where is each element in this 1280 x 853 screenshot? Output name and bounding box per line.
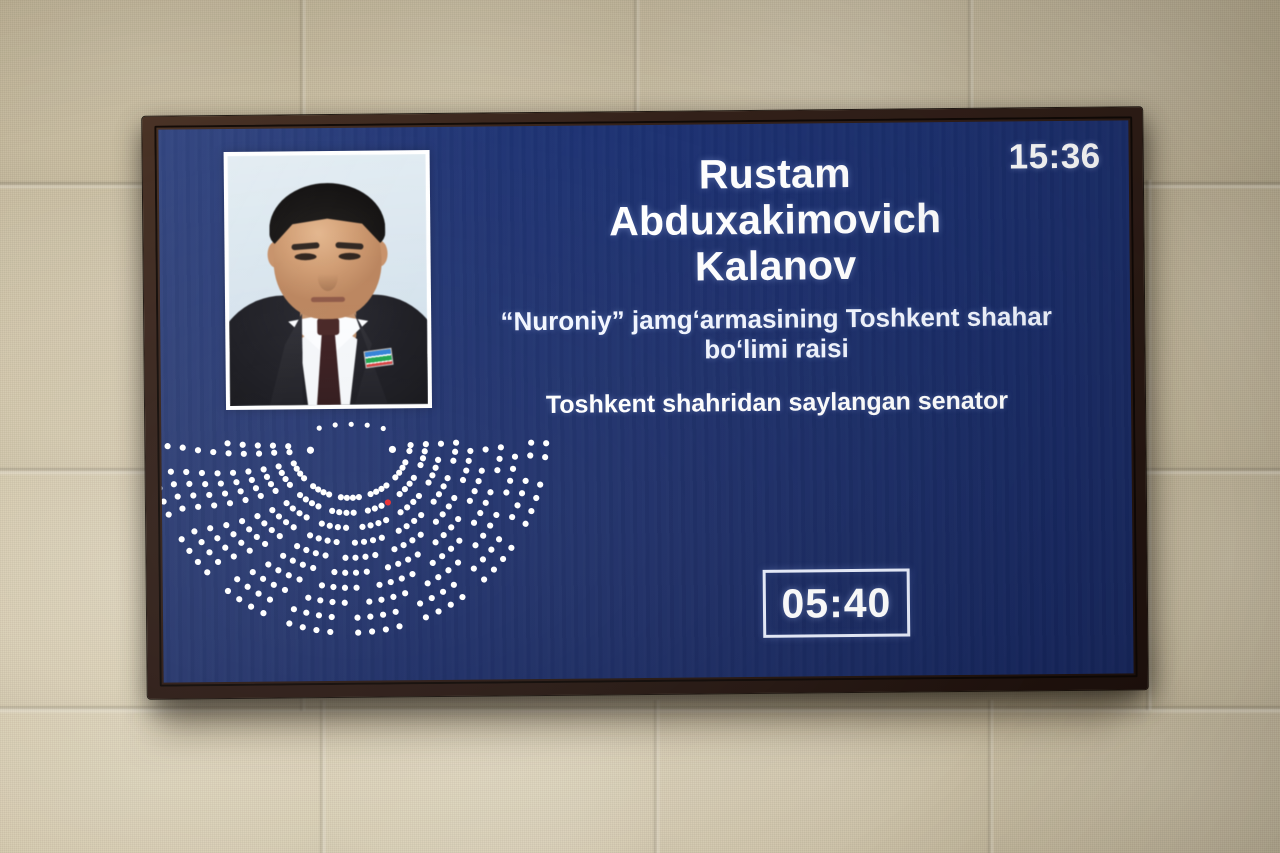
seat: [296, 510, 302, 516]
seat: [542, 454, 548, 460]
seat: [222, 545, 228, 551]
seat: [342, 570, 348, 576]
seat: [356, 494, 362, 500]
seat: [507, 478, 513, 484]
seat: [466, 458, 472, 464]
seat: [440, 511, 446, 517]
seat: [487, 522, 493, 528]
seat: [286, 620, 292, 626]
seat: [367, 522, 373, 528]
seat: [353, 585, 359, 591]
seat: [334, 539, 340, 545]
seat: [225, 588, 231, 594]
seat: [390, 594, 396, 600]
seat: [279, 470, 285, 476]
seat: [418, 512, 424, 518]
seat: [351, 510, 357, 516]
seat: [175, 493, 181, 499]
seat: [230, 470, 236, 476]
seat: [396, 528, 402, 534]
seat: [423, 614, 429, 620]
seat: [533, 495, 539, 501]
seat: [514, 502, 520, 508]
seat: [481, 576, 487, 582]
seat: [435, 457, 441, 463]
seat: [432, 465, 438, 471]
seat: [211, 502, 217, 508]
seat: [444, 475, 450, 481]
seat: [527, 452, 533, 458]
seat: [230, 531, 236, 537]
seat: [439, 553, 445, 559]
seat: [286, 449, 292, 455]
seat: [407, 442, 413, 448]
wall-display-monitor: 15:36: [142, 107, 1148, 699]
seat: [417, 462, 423, 468]
seat: [322, 552, 328, 558]
seat: [316, 612, 322, 618]
seat: [498, 444, 504, 450]
seat: [329, 614, 335, 620]
seat: [233, 479, 239, 485]
seat: [418, 532, 424, 538]
seat: [343, 525, 349, 531]
seat: [300, 624, 306, 630]
seat: [294, 543, 300, 549]
seat: [399, 575, 405, 581]
seat: [423, 441, 429, 447]
seat: [255, 442, 261, 448]
seat: [400, 542, 406, 548]
seat: [256, 450, 262, 456]
seat: [258, 493, 264, 499]
seat: [480, 533, 486, 539]
seat: [158, 472, 159, 478]
seat: [436, 491, 442, 497]
seat: [342, 555, 348, 561]
speaker-portrait: [224, 150, 432, 410]
seat: [370, 537, 376, 543]
seat: [483, 500, 489, 506]
seat: [300, 562, 306, 568]
seat: [350, 495, 356, 501]
seat: [479, 468, 485, 474]
seat: [317, 426, 322, 431]
seat: [528, 440, 534, 446]
seat: [452, 449, 458, 455]
seat: [450, 458, 456, 464]
seat: [352, 540, 358, 546]
seat: [276, 463, 282, 469]
seat: [503, 489, 509, 495]
seat: [160, 498, 166, 504]
seat: [410, 499, 416, 505]
seat: [218, 480, 224, 486]
seat: [319, 521, 325, 527]
seat: [445, 567, 451, 573]
seat: [420, 455, 426, 461]
seat: [409, 537, 415, 543]
seat: [186, 548, 192, 554]
seat: [338, 494, 344, 500]
seat: [365, 423, 370, 428]
seat: [411, 518, 417, 524]
seat: [336, 509, 342, 515]
seat: [393, 609, 399, 615]
seat: [496, 456, 502, 462]
seat: [512, 454, 518, 460]
seat: [361, 539, 367, 545]
seat: [315, 503, 321, 509]
seat: [344, 495, 350, 501]
wall-panel: [1150, 475, 1280, 705]
seat: [248, 603, 254, 609]
seat: [409, 571, 415, 577]
seat: [349, 422, 354, 427]
seat: [276, 513, 282, 519]
seat: [277, 533, 283, 539]
seat: [429, 595, 435, 601]
seat: [472, 542, 478, 548]
portrait-mouth: [311, 297, 345, 302]
seat: [453, 440, 459, 446]
seat: [304, 514, 310, 520]
seat: [415, 551, 421, 557]
seat: [508, 545, 514, 551]
seat: [431, 499, 437, 505]
wall-panel: [995, 712, 1280, 853]
seat: [303, 496, 309, 502]
speaking-timer-box: 05:40: [763, 568, 911, 637]
seat: [214, 470, 220, 476]
seat: [254, 513, 260, 519]
seat: [355, 630, 361, 636]
seat: [369, 628, 375, 634]
seat: [158, 485, 162, 491]
seat: [372, 505, 378, 511]
seat: [285, 443, 291, 449]
seat: [333, 422, 338, 427]
seat: [435, 608, 441, 614]
seat: [307, 447, 314, 454]
seat: [463, 467, 469, 473]
seat: [249, 477, 255, 483]
seat: [191, 528, 197, 534]
seat: [283, 519, 289, 525]
seat: [395, 561, 401, 567]
seat: [280, 553, 286, 559]
seat: [438, 441, 444, 447]
seat: [430, 560, 436, 566]
seat: [179, 505, 185, 511]
seat: [195, 559, 201, 565]
seat: [488, 546, 494, 552]
seat: [319, 582, 325, 588]
seat: [186, 481, 192, 487]
seat: [206, 492, 212, 498]
seat: [313, 627, 319, 633]
speaker-role-line-2: bo‘limi raisi: [460, 331, 1092, 368]
seat: [260, 610, 266, 616]
seat: [378, 597, 384, 603]
seat: [352, 555, 358, 561]
speaker-constituency: Toshkent shahridan saylangan senator: [461, 386, 1093, 421]
seat: [309, 500, 315, 506]
seat: [210, 449, 216, 455]
seat: [365, 507, 371, 513]
seat: [331, 569, 337, 575]
seat: [467, 448, 473, 454]
seat: [477, 510, 483, 516]
wall-panel: [1150, 190, 1280, 470]
seat: [315, 486, 321, 492]
seat: [494, 467, 500, 473]
seat: [364, 569, 370, 575]
seat: [417, 600, 423, 606]
seat: [224, 440, 230, 446]
seat: [204, 569, 210, 575]
seat: [303, 610, 309, 616]
seat: [222, 490, 228, 496]
seat: [272, 488, 278, 494]
uzbekistan-flag-pin-icon: [364, 348, 394, 369]
seat: [404, 504, 410, 510]
seat: [425, 580, 431, 586]
seat: [362, 554, 368, 560]
seat: [242, 497, 248, 503]
seat: [378, 503, 384, 509]
seat: [405, 556, 411, 562]
seat: [179, 536, 185, 542]
seat: [493, 512, 499, 518]
seat: [253, 485, 259, 491]
seat: [270, 442, 276, 448]
seat: [425, 479, 431, 485]
seat: [271, 450, 277, 456]
seat: [396, 623, 402, 629]
seat: [459, 594, 465, 600]
seat: [324, 537, 330, 543]
seat: [254, 534, 260, 540]
seat: [269, 507, 275, 513]
seat: [215, 559, 221, 565]
seat: [240, 442, 246, 448]
seat: [290, 558, 296, 564]
seat: [472, 488, 478, 494]
seat: [467, 498, 473, 504]
seat: [287, 482, 293, 488]
seat: [268, 481, 274, 487]
wall-panel: [325, 712, 655, 853]
seat: [402, 590, 408, 596]
seat: [260, 576, 266, 582]
seat: [448, 602, 454, 608]
seat: [214, 535, 220, 541]
chamber-seating-diagram: [179, 416, 521, 677]
seat: [234, 576, 240, 582]
seat: [168, 469, 174, 475]
seat: [206, 549, 212, 555]
seat: [366, 599, 372, 605]
seat: [231, 553, 237, 559]
seat: [199, 470, 205, 476]
seat: [448, 546, 454, 552]
seat: [411, 475, 417, 481]
seat: [244, 584, 250, 590]
seat: [241, 451, 247, 457]
seat: [164, 443, 170, 449]
seat: [397, 491, 403, 497]
seat: [537, 481, 543, 487]
seat: [543, 440, 549, 446]
seat: [238, 488, 244, 494]
seat: [416, 493, 422, 499]
seat: [441, 532, 447, 538]
seat: [291, 460, 297, 466]
seat: [528, 508, 534, 514]
seat: [475, 478, 481, 484]
seat: [510, 466, 516, 472]
seat: [261, 520, 267, 526]
seat: [500, 556, 506, 562]
speaker-name-line-3: Kalanov: [459, 241, 1091, 293]
seat: [223, 522, 229, 528]
seat: [381, 426, 386, 431]
portrait-nose: [318, 263, 338, 291]
seat: [202, 481, 208, 487]
seat: [433, 519, 439, 525]
speaker-info-block: Rustam Abduxakimovich Kalanov “Nuroniy” …: [459, 149, 1094, 421]
display-screen: 15:36: [158, 120, 1133, 682]
seat: [246, 526, 252, 532]
speaker-name-line-1: Rustam: [459, 149, 1091, 201]
seat: [388, 579, 394, 585]
seat: [342, 585, 348, 591]
seat: [282, 476, 288, 482]
seat: [316, 535, 322, 541]
seat: [303, 547, 309, 553]
seat: [307, 532, 313, 538]
seat: [255, 590, 261, 596]
conference-room-wall: 15:36: [0, 0, 1280, 853]
seat: [282, 587, 288, 593]
portrait-image: [228, 154, 428, 406]
seat: [271, 582, 277, 588]
seat: [236, 596, 242, 602]
seat: [227, 500, 233, 506]
seat: [375, 520, 381, 526]
seat: [509, 514, 515, 520]
seat: [455, 516, 461, 522]
seat: [262, 541, 268, 547]
seat: [225, 450, 231, 456]
speaking-timer-value: 05:40: [781, 579, 891, 627]
seat: [402, 486, 408, 492]
seat: [491, 566, 497, 572]
seat: [267, 597, 273, 603]
seat: [261, 466, 267, 472]
seat: [367, 613, 373, 619]
seat: [283, 500, 289, 506]
seat: [310, 565, 316, 571]
seat: [379, 535, 385, 541]
seat: [195, 447, 201, 453]
speaker-name-line-2: Abduxakimovich: [459, 195, 1091, 247]
seat: [440, 589, 446, 595]
seat: [290, 505, 296, 511]
seat: [239, 518, 245, 524]
seat: [297, 492, 303, 498]
seat: [380, 612, 386, 618]
seat: [367, 491, 373, 497]
seat: [446, 503, 452, 509]
seat: [373, 489, 379, 495]
seat: [383, 626, 389, 632]
seat: [376, 582, 382, 588]
seat: [385, 564, 391, 570]
seat: [238, 540, 244, 546]
seat: [327, 523, 333, 529]
seat: [195, 504, 201, 510]
seat: [389, 446, 396, 453]
seat: [326, 491, 332, 497]
seat: [183, 469, 189, 475]
seat: [265, 561, 271, 567]
seat: [291, 606, 297, 612]
seat: [247, 548, 253, 554]
seat: [399, 465, 405, 471]
seat: [404, 523, 410, 529]
seat: [291, 524, 297, 530]
seat: [317, 597, 323, 603]
seat: [522, 521, 528, 527]
seatmap-svg: [179, 416, 521, 677]
seat: [180, 445, 186, 451]
seat: [435, 574, 441, 580]
seat: [207, 525, 213, 531]
seat: [359, 524, 365, 530]
speaker-role: “Nuroniy” jamg‘armasining Toshkent shaha…: [460, 300, 1093, 367]
seat: [383, 482, 389, 488]
seat: [451, 582, 457, 588]
portrait-tie-knot: [317, 318, 339, 335]
seat: [313, 550, 319, 556]
seat: [343, 510, 349, 516]
seat: [264, 474, 270, 480]
seat: [402, 459, 408, 465]
seat: [353, 570, 359, 576]
seat: [487, 489, 493, 495]
seat: [301, 475, 307, 481]
seat: [305, 595, 311, 601]
wall-panel: [660, 712, 990, 853]
seat: [329, 508, 335, 514]
seat: [471, 520, 477, 526]
seat: [482, 446, 488, 452]
seat: [327, 629, 333, 635]
seat: [372, 552, 378, 558]
seat: [198, 539, 204, 545]
seat: [330, 584, 336, 590]
seat: [455, 559, 461, 565]
seat: [335, 524, 341, 530]
seat: [440, 483, 446, 489]
seat: [471, 565, 477, 571]
seat: [320, 489, 326, 495]
seat: [432, 539, 438, 545]
seat: [383, 517, 389, 523]
seat: [406, 448, 412, 454]
